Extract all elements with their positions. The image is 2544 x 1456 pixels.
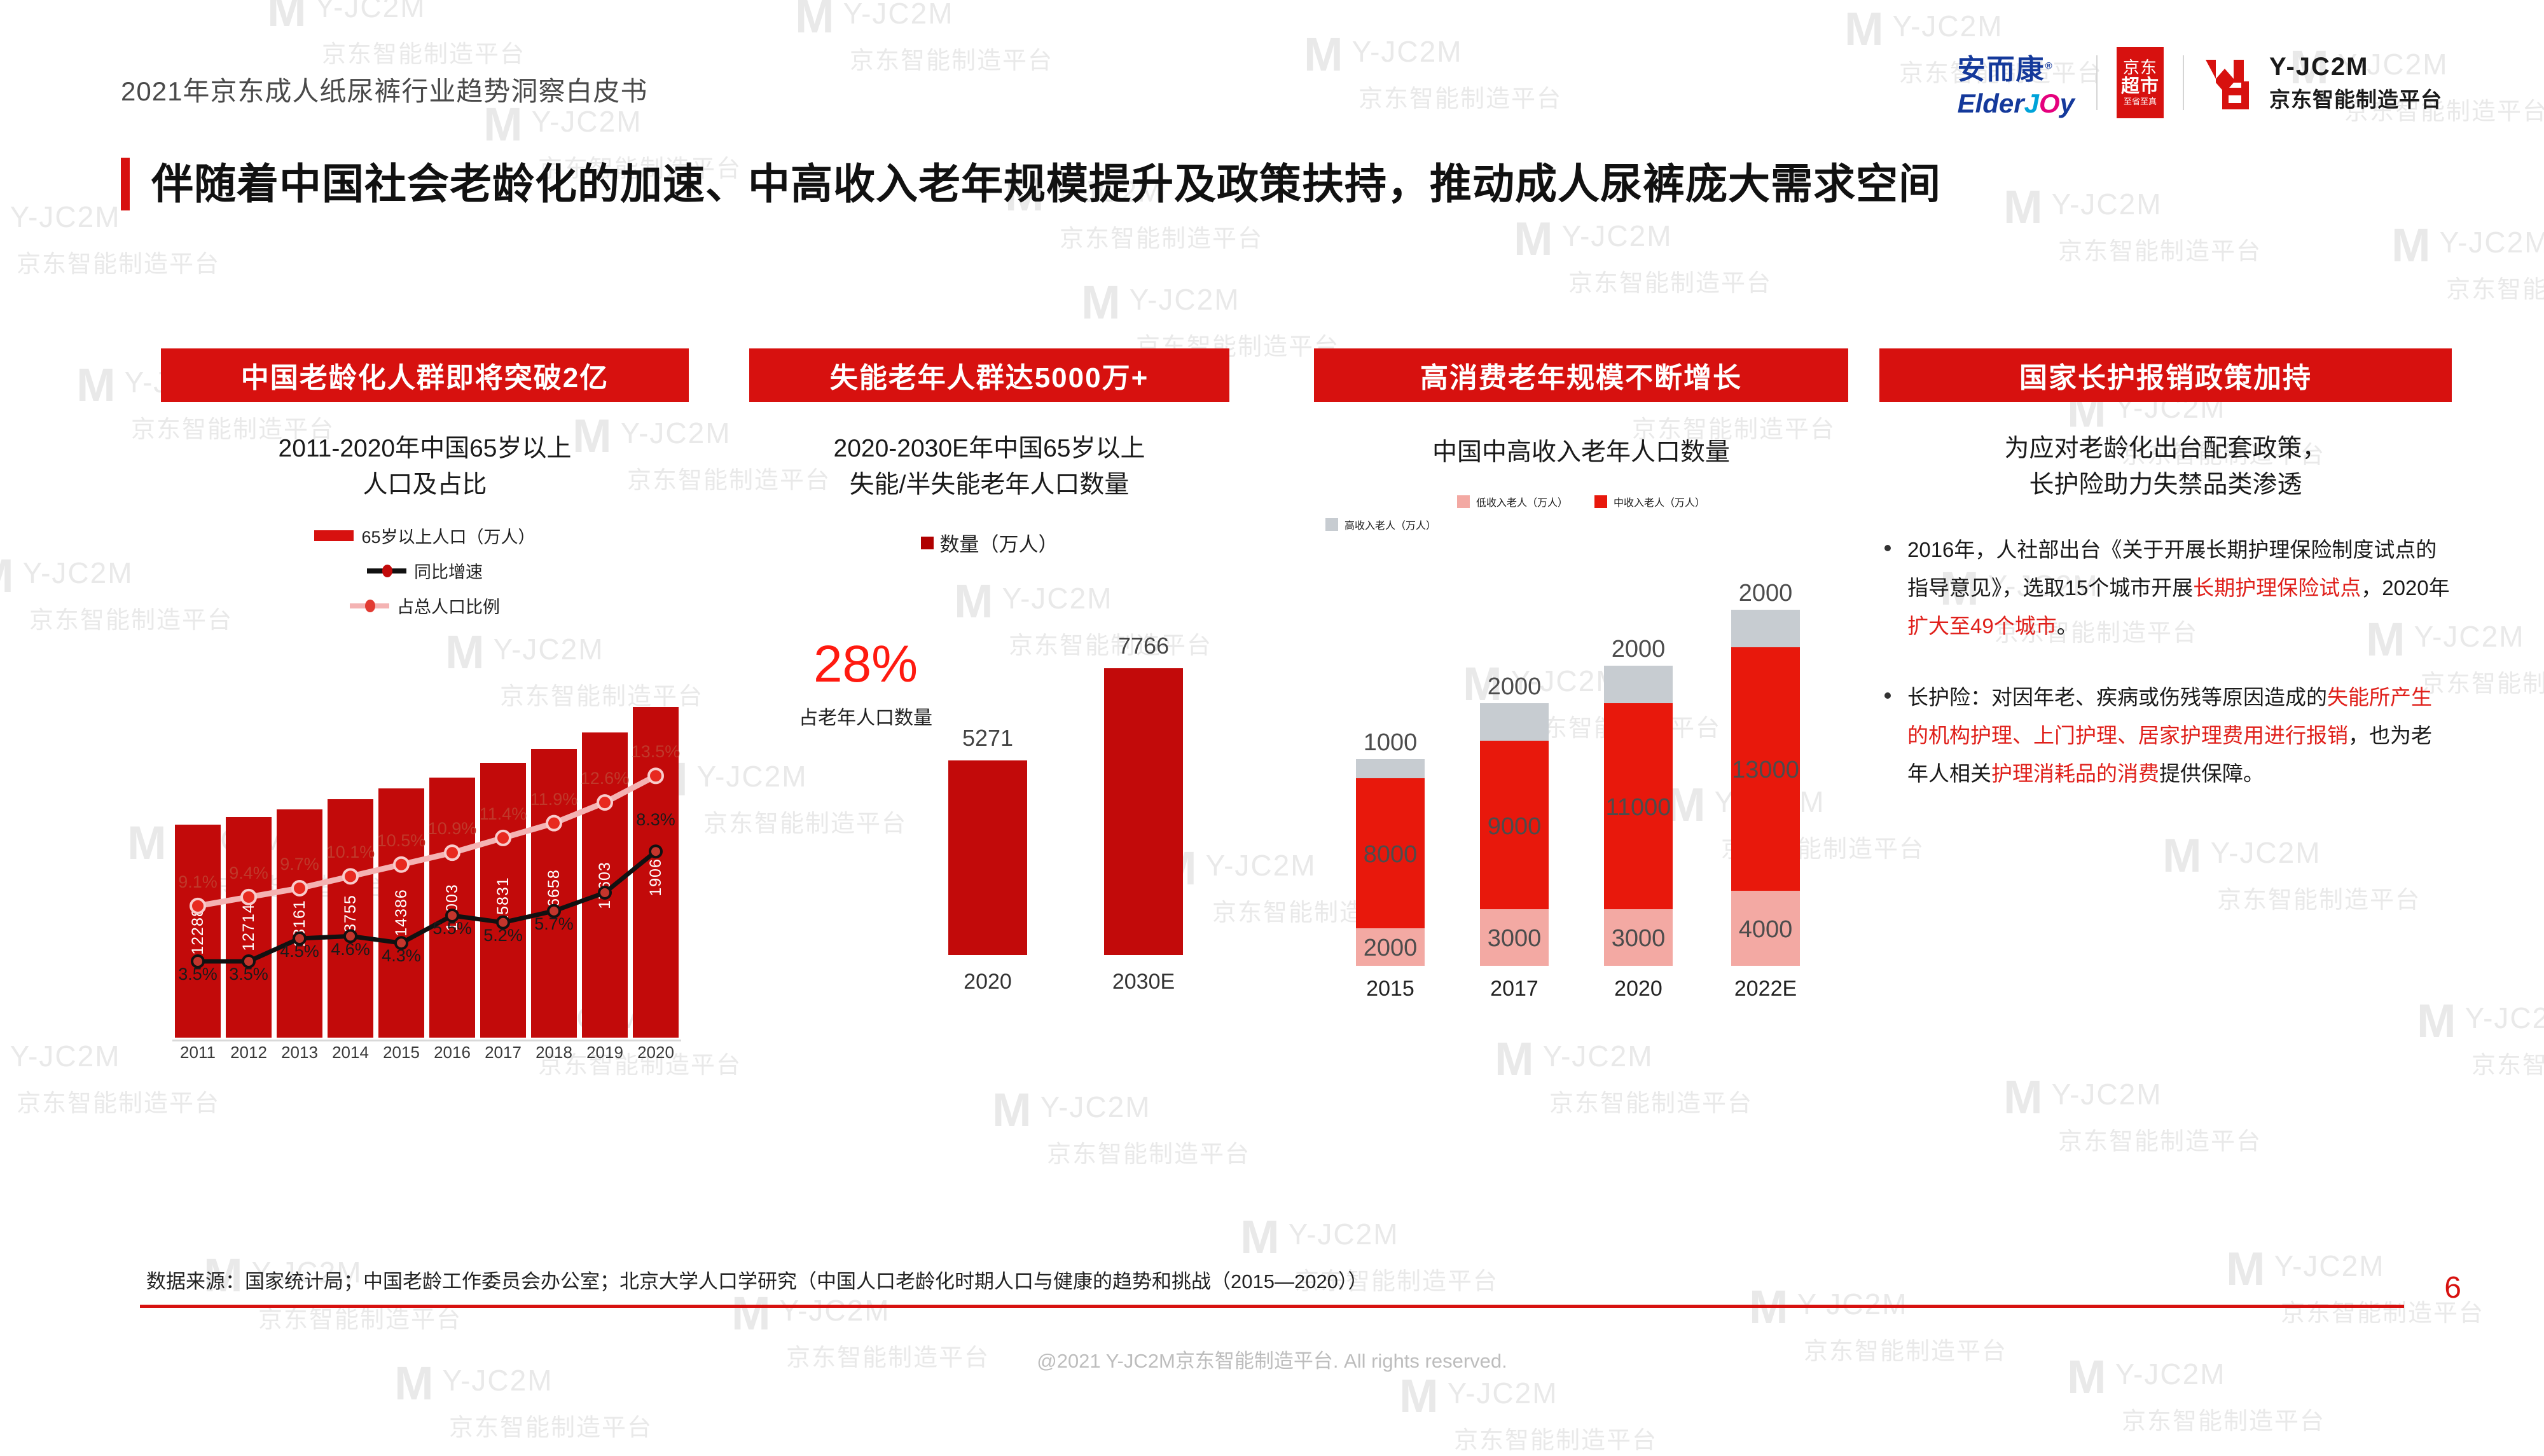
headline-text: 伴随着中国社会老龄化的加速、中高收入老年规模提升及政策扶持，推动成人尿裤庞大需求… [151,158,1941,210]
stacked-bar-segment [1356,759,1425,778]
chart-income-stacked: 2000800010002015300090002000201730001100… [1314,536,1848,1006]
yjc2m-logo: Y-JC2M 京东智能制造平台 [2184,53,2442,113]
column-4-subtitle: 为应对老龄化出台配套政策，长护险助力失禁品类渗透 [1879,431,2452,503]
yjc2m-cn-text: 京东智能制造平台 [2269,83,2442,113]
elderjoy-logo: 安而康® ElderJOy [1958,46,2096,119]
document-title: 2021年京东成人纸尿裤行业趋势洞察白皮书 [121,70,647,109]
highlighted-phrase: 长期护理保险试点 [2193,576,2361,600]
legend-item: 高收入老人（万人） [1325,517,1436,532]
watermark: MY-JC2M京东智能制造平台 [2003,178,2262,267]
x-tick-label: 2018 [536,1043,572,1062]
x-tick-label: 2014 [332,1043,369,1062]
line-value-label: 11.9% [530,790,578,809]
legend-item: 65岁以上人口（万人） [161,523,689,548]
yjc2m-en-text: Y-JC2M [2269,53,2442,81]
line-value-label: 4.5% [280,942,319,961]
subtitle-line: 失能/半失能老年人口数量 [749,467,1229,504]
body-phrase: 提供保障。 [2159,762,2264,785]
line-value-label: 3.5% [229,965,268,984]
line-value-label: 8.3% [636,810,675,830]
line-value-label: 9.1% [178,872,218,892]
bar [1104,668,1183,956]
elderjoy-o-glyph: O [2039,88,2060,118]
segment-value-label: 1000 [1364,729,1418,757]
column-1-subtitle: 2011-2020年中国65岁以上人口及占比 [161,431,689,503]
subtitle-line: 为应对老龄化出台配套政策， [1879,431,2452,467]
body-phrase: 。 [2057,614,2078,638]
column-high-income-elderly: 高消费老年规模不断增长 中国中高收入老年人口数量 低收入老人（万人） 中收入老人… [1314,348,1848,1006]
bullet-dot-icon [1884,545,1891,551]
chart-2-annotation: 28%占老年人口数量 [773,638,958,730]
elderjoy-j-glyph: J [2024,88,2039,118]
line-value-label: 4.3% [382,946,421,966]
highlighted-phrase: 扩大至49个城市 [1907,614,2057,638]
watermark: MY-JC2M京东智能制造平台 [1514,210,1772,299]
jd-super-line3: 至省至真 [2124,97,2157,106]
policy-bullet: 2016年，人社部出台《关于开展长期护理保险制度试点的指导意见》，选取15个城市… [1879,531,2452,645]
legend-label: 65岁以上人口（万人） [361,523,535,548]
segment-value-label: 4000 [1739,916,1793,944]
legend-item: 数量（万人） [749,528,1229,557]
chart-1-x-axis-labels: 2011201220132014201520162017201820192020 [172,1043,681,1068]
bullet-dot-icon [1884,692,1891,699]
jd-super-line2: 超市 [2121,77,2159,96]
footer-rule [140,1305,2404,1308]
policy-bullet-text: 长护险：对因年老、疾病或伤残等原因造成的失能所产生的机构护理、上门护理、居家护理… [1907,678,2452,793]
segment-value-label: 3000 [1488,925,1542,952]
chart-2-legend: 数量（万人） [749,528,1229,557]
chart-aging-population: 1228812714131611375514386150031583116658… [161,628,689,1073]
headline-block: 伴随着中国社会老龄化的加速、中高收入老年规模提升及政策扶持，推动成人尿裤庞大需求… [121,158,1941,210]
legend-label: 同比增速 [414,558,483,583]
line-value-label: 13.5% [632,742,681,762]
line-value-label: 11.4% [480,804,527,824]
column-2-title: 失能老年人群达5000万+ [749,348,1229,402]
legend-item: 中收入老人（万人） [1594,494,1705,509]
legend-label: 占总人口比例 [397,593,500,618]
stacked-bar-segment [1480,703,1549,741]
line-value-label: 5.5% [432,919,472,938]
watermark: MY-JC2M京东智能制造平台 [1399,1367,1657,1456]
jd-super-line1: 京东 [2123,59,2157,76]
page-number: 6 [2444,1270,2461,1305]
line-value-label: 5.2% [483,926,523,945]
segment-value-label: 2000 [1612,636,1666,663]
stacked-bar-segment [1604,666,1673,703]
stacked-bar-segment [1731,610,1800,647]
segment-value-label: 11000 [1606,794,1671,821]
watermark: MY-JC2M京东智能制造平台 [1304,25,1562,114]
segment-value-label: 2000 [1488,673,1542,701]
headline-accent-bar [121,158,130,210]
line-value-label: 10.9% [428,819,477,839]
watermark: MY-JC2M京东智能制造平台 [267,0,525,70]
column-disabled-elderly: 失能老年人群达5000万+ 2020-2030E年中国65岁以上失能/半失能老年… [749,348,1229,1012]
column-aging-population: 中国老龄化人群即将突破2亿 2011-2020年中国65岁以上人口及占比 65岁… [161,348,689,1073]
policy-bullet-list: 2016年，人社部出台《关于开展长期护理保险制度试点的指导意见》，选取15个城市… [1879,531,2452,793]
percentage-caption: 占老年人口数量 [773,702,958,730]
elderjoy-en-text: Elder [1958,88,2024,118]
x-tick-label: 2017 [1490,977,1538,1001]
column-3-subtitle: 中国中高收入老年人口数量 [1314,435,1848,471]
policy-bullet-text: 2016年，人社部出台《关于开展长期护理保险制度试点的指导意见》，选取15个城市… [1907,531,2452,645]
legend-label: 数量（万人） [940,528,1058,557]
line-value-label: 12.6% [581,769,630,788]
legend-square-swatch-icon [921,537,934,549]
yjc2m-mark-icon [2203,56,2257,109]
legend-square-swatch-icon [1457,495,1470,508]
x-tick-label: 2012 [230,1043,267,1062]
x-tick-label: 2011 [180,1043,216,1062]
legend-item: 占总人口比例 [161,593,689,618]
x-tick-label: 2020 [964,970,1012,994]
legend-bar-swatch-icon [314,530,354,541]
policy-bullet: 长护险：对因年老、疾病或伤残等原因造成的失能所产生的机构护理、上门护理、居家护理… [1879,678,2452,793]
column-2-subtitle: 2020-2030E年中国65岁以上失能/半失能老年人口数量 [749,431,1229,503]
body-phrase: ，2020年 [2361,576,2449,600]
chart-1-legend: 65岁以上人口（万人） 同比增速 占总人口比例 [161,523,689,618]
watermark: MY-JC2M京东智能制造平台 [2391,216,2544,305]
watermark: MY-JC2M京东智能制造平台 [795,0,1053,76]
legend-label: 中收入老人（万人） [1614,494,1705,509]
chart-1-axis [172,1040,681,1041]
x-tick-label: 2016 [434,1043,471,1062]
x-tick-label: 2022E [1734,977,1797,1001]
highlighted-phrase: 护理消耗品的消费 [1991,762,2159,785]
x-tick-label: 2013 [281,1043,318,1062]
legend-item: 低收入老人（万人） [1457,494,1568,509]
line-value-label: 10.1% [326,842,375,862]
x-tick-label: 2030E [1112,970,1175,994]
segment-value-label: 3000 [1612,925,1666,952]
chart-disabled-elderly: 28%占老年人口数量5271202077662030E [749,567,1229,1012]
line-value-label: 9.4% [229,863,268,883]
copyright-text: @2021 Y-JC2M京东智能制造平台. All rights reserve… [0,1345,2544,1373]
subtitle-line: 2011-2020年中国65岁以上 [161,431,689,467]
x-tick-label: 2017 [485,1043,522,1062]
percentage-annotation: 28% [773,638,958,690]
jd-super-logo: 京东 超市 至省至真 [2117,47,2164,118]
segment-value-label: 2000 [1364,935,1418,962]
columns-container: 中国老龄化人群即将突破2亿 2011-2020年中国65岁以上人口及占比 65岁… [0,348,2544,1143]
data-source-note: 数据来源：国家统计局；中国老龄工作委员会办公室；北京大学人口学研究（中国人口老龄… [146,1265,1367,1294]
legend-line-swatch-icon [350,603,389,608]
line-value-label: 4.6% [331,940,370,959]
column-4-title: 国家长护报销政策加持 [1879,348,2452,402]
segment-value-label: 8000 [1364,841,1418,869]
legend-label: 高收入老人（万人） [1345,517,1436,532]
bar-value-label: 7766 [1118,633,1169,659]
legend-label: 低收入老人（万人） [1476,494,1568,509]
bar [948,760,1027,955]
legend-square-swatch-icon [1594,495,1607,508]
line-value-label: 10.5% [377,831,426,851]
legend-square-swatch-icon [1325,518,1338,531]
column-policy: 国家长护报销政策加持 为应对老龄化出台配套政策，长护险助力失禁品类渗透 2016… [1879,348,2452,826]
x-tick-label: 2015 [1366,977,1414,1001]
elderjoy-y-glyph: y [2060,88,2075,118]
column-1-title: 中国老龄化人群即将突破2亿 [161,348,689,402]
legend-line-swatch-icon [367,568,406,573]
bar-value-label: 5271 [962,725,1013,752]
segment-value-label: 2000 [1739,580,1793,607]
line-value-label: 5.7% [534,914,574,934]
elderjoy-cn-text: 安而康 [1958,54,2045,85]
chart-3-legend: 低收入老人（万人） 中收入老人（万人） 高收入老人（万人） [1314,494,1848,532]
subtitle-line: 人口及占比 [161,467,689,504]
legend-item: 同比增速 [161,558,689,583]
brand-logo-bar: 安而康® ElderJOy 京东 超市 至省至真 Y-JC2M 京东智能制造平台 [1958,45,2442,121]
segment-value-label: 13000 [1732,757,1799,784]
subtitle-line: 长护险助力失禁品类渗透 [1879,467,2452,504]
x-tick-label: 2020 [637,1043,674,1062]
logo-divider-1 [2096,55,2098,110]
subtitle-line: 2020-2030E年中国65岁以上 [749,431,1229,467]
line-value-label: 3.5% [178,965,218,984]
body-phrase: 长护险：对因年老、疾病或伤残等原因造成的 [1907,685,2327,709]
x-tick-label: 2015 [383,1043,420,1062]
column-3-title: 高消费老年规模不断增长 [1314,348,1848,402]
line-value-label: 9.7% [280,855,319,874]
registered-mark-icon: ® [2045,60,2054,71]
x-tick-label: 2019 [586,1043,623,1062]
x-tick-label: 2020 [1614,977,1663,1001]
segment-value-label: 9000 [1488,813,1542,841]
